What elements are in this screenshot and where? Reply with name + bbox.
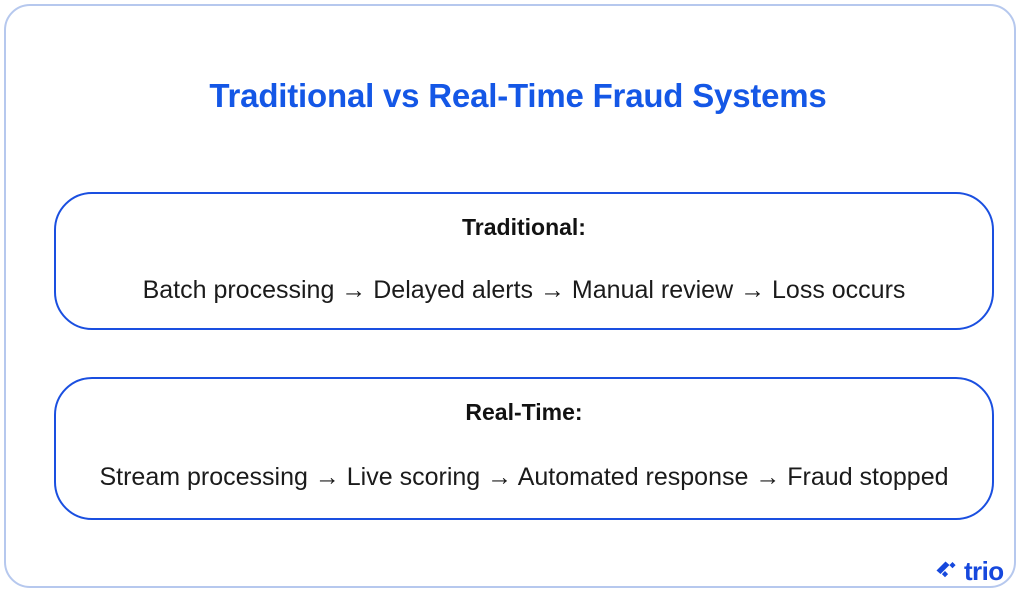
card-traditional-flow-text: Batch processing → Delayed alerts → Manu… <box>56 276 992 305</box>
page-title: Traditional vs Real-Time Fraud Systems <box>6 77 1024 115</box>
slide-frame: Traditional vs Real-Time Fraud Systems T… <box>4 4 1016 588</box>
trio-wordmark: trio <box>964 558 1003 584</box>
card-traditional: Traditional: Batch processing → Delayed … <box>54 192 994 330</box>
card-real-time: Real-Time: Stream processing → Live scor… <box>54 377 994 520</box>
card-real-time-heading: Real-Time: <box>56 399 992 426</box>
card-real-time-flow-text: Stream processing → Live scoring → Autom… <box>56 463 992 492</box>
trio-logo: trio <box>934 555 1003 585</box>
card-traditional-heading: Traditional: <box>56 214 992 241</box>
trio-diamond-slash-icon <box>934 557 960 583</box>
